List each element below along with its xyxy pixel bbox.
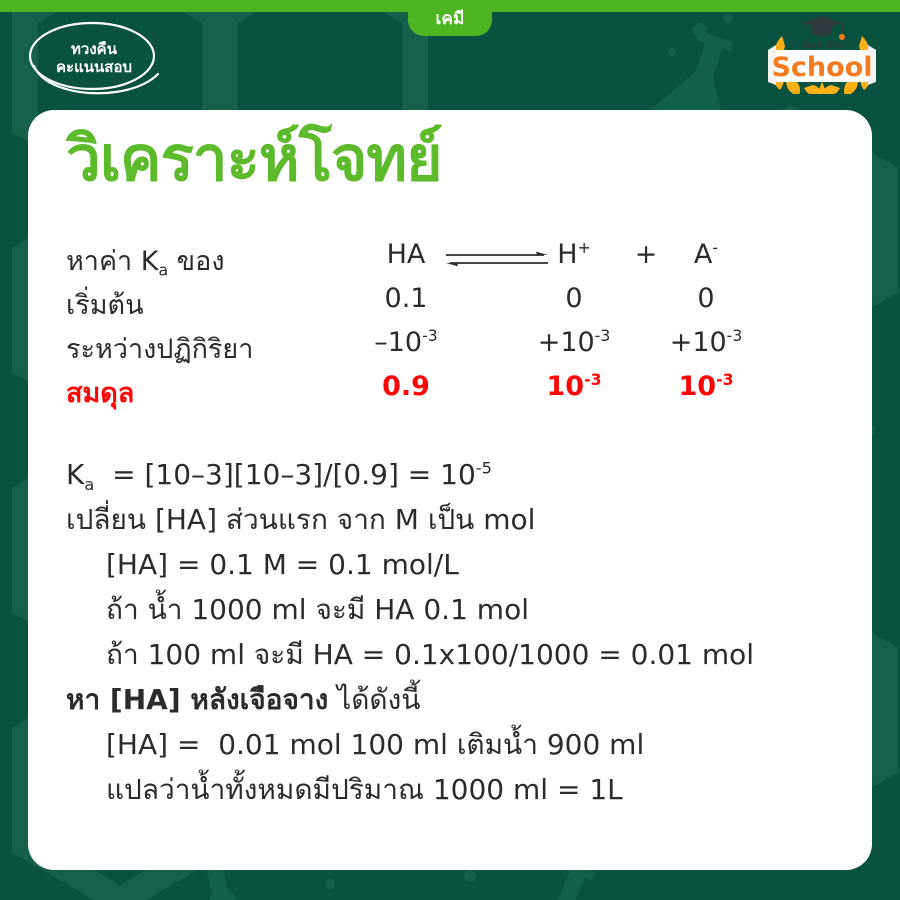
page-title: วิเคราะห์โจทย์	[66, 128, 442, 190]
solution-line-convert-m-to-mol: เปลี่ยน [HA] ส่วนแรก จาก M เป็น mol	[66, 497, 846, 542]
solution-line-ka-formula: Ka = [10–3][10–3]/[0.9] = 10-5	[66, 452, 846, 497]
cell-initial-h: 0	[565, 283, 582, 314]
species-reactant-ha: HA	[387, 239, 426, 270]
badge-line-1: ทวงคืน	[56, 41, 132, 59]
reaction-row-label: หาค่า Ka ของ	[66, 239, 225, 282]
series-badge: ทวงคืน คะแนนสอบ	[18, 18, 170, 102]
cell-equilibrium-h: 10-3	[547, 371, 602, 402]
species-h-charge: +	[578, 238, 591, 257]
row-label-initial: เริ่มต้น	[66, 283, 144, 326]
species-h-base: H	[557, 239, 577, 270]
reaction-label-sub: a	[158, 261, 168, 280]
equilibrium-double-arrow-icon	[444, 250, 550, 270]
table-row-equilibrium: สมดุล 0.9 10-3 10-3	[66, 368, 826, 412]
cell-initial-a: 0	[697, 283, 714, 314]
equilibrium-table: หาค่า Ka ของ HA H+ + A- เริ่มต้น 0.1 0 0…	[66, 236, 826, 412]
graduation-cap-icon	[802, 16, 845, 40]
solution-line-water-1000ml: ถ้า น้ำ 1000 ml จะมี HA 0.1 mol	[66, 587, 846, 632]
species-a-base: A	[694, 239, 712, 270]
logo-main-text: School	[771, 52, 872, 83]
reaction-label-suffix: ของ	[168, 246, 224, 277]
reaction-plus-sign: +	[635, 239, 658, 270]
solution-steps: Ka = [10–3][10–3]/[0.9] = 10-5เปลี่ยน [H…	[66, 452, 846, 812]
solution-line-ha-molarity: [HA] = 0.1 M = 0.1 mol/L	[66, 542, 846, 587]
subject-tab-label: เคมี	[436, 5, 465, 32]
badge-line-2: คะแนนสอบ	[56, 59, 132, 77]
cell-initial-ha: 0.1	[385, 283, 428, 314]
row-label-change: ระหว่างปฏิกิริยา	[66, 327, 253, 370]
badge-text-block: ทวงคืน คะแนนสอบ	[56, 41, 132, 76]
cell-equilibrium-ha: 0.9	[382, 371, 430, 402]
cell-equilibrium-a: 10-3	[679, 371, 734, 402]
solution-line-water-100ml: ถ้า 100 ml จะมี HA = 0.1x100/1000 = 0.01…	[66, 632, 846, 677]
species-product-h: H+	[557, 239, 590, 270]
solution-line-total-volume: แปลว่าน้ำทั้งหมดมีปริมาณ 1000 ml = 1L	[66, 767, 846, 812]
cell-change-ha: –10-3	[374, 327, 437, 358]
solution-line-find-ha-diluted: หา [HA] หลังเจือจาง ได้ดังนี้	[66, 677, 846, 722]
content-card: วิเคราะห์โจทย์ หาค่า Ka ของ HA H+ + A- เ…	[28, 110, 872, 870]
solution-line-ha-after-add: [HA] = 0.01 mol 100 ml เติมน้ำ 900 ml	[66, 722, 846, 767]
table-row-initial: เริ่มต้น 0.1 0 0	[66, 280, 826, 324]
subject-tab-chemistry[interactable]: เคมี	[408, 0, 492, 36]
table-row-reaction: หาค่า Ka ของ HA H+ + A-	[66, 236, 826, 280]
table-row-change: ระหว่างปฏิกิริยา –10-3 +10-3 +10-3	[66, 324, 826, 368]
species-product-a: A-	[694, 239, 718, 270]
cell-change-h: +10-3	[538, 327, 611, 358]
reaction-label-prefix: หาค่า K	[66, 246, 158, 277]
row-label-equilibrium: สมดุล	[66, 371, 134, 414]
cell-change-a: +10-3	[670, 327, 743, 358]
dekd-school-logo[interactable]: Dek-D's School	[758, 10, 886, 94]
species-a-charge: -	[712, 238, 718, 257]
logo-small-text: Dek-D's	[803, 41, 842, 51]
